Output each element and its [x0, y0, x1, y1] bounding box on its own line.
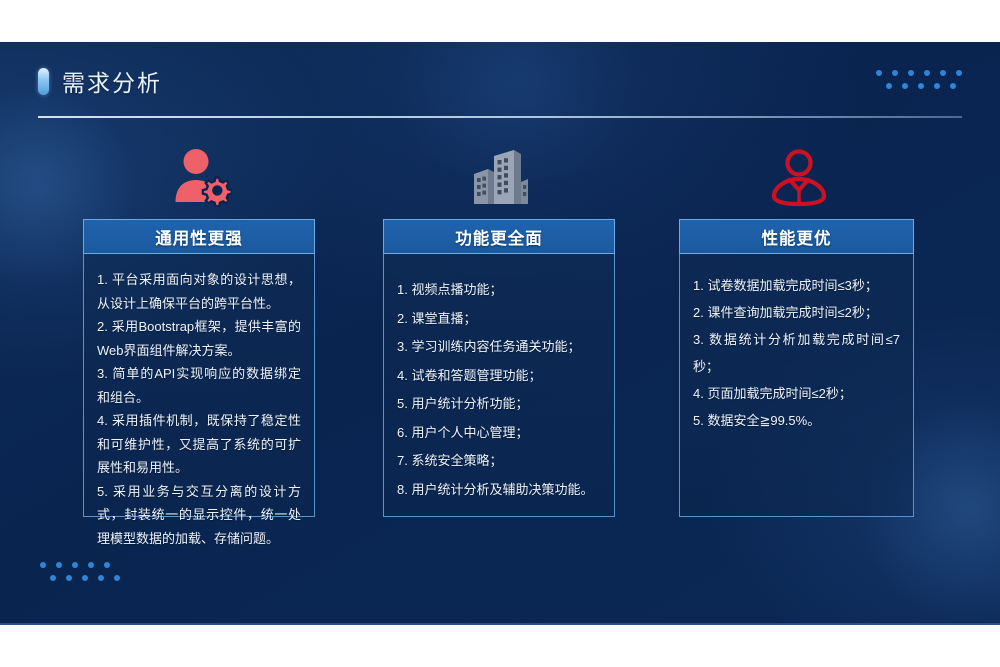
card-line: 2. 课件查询加载完成时间≤2秒；	[693, 299, 900, 326]
card-header-label: 功能更全面	[455, 225, 543, 249]
card-body-functionality: 1. 视频点播功能； 2. 课堂直播； 3. 学习训练内容任务通关功能； 4. …	[383, 254, 615, 517]
card-body-text: 1. 视频点播功能； 2. 课堂直播； 3. 学习训练内容任务通关功能； 4. …	[397, 276, 601, 504]
card-header-label: 性能更优	[762, 225, 832, 249]
card-line: 4. 采用插件机制，既保持了稳定性和可维护性，又提高了系统的可扩展性和易用性。	[97, 409, 301, 480]
card-line: 1. 视频点播功能；	[397, 276, 601, 305]
business-person-icon	[681, 146, 916, 208]
card-body-text: 1. 试卷数据加载完成时间≤3秒； 2. 课件查询加载完成时间≤2秒； 3. 数…	[693, 272, 900, 434]
card-line: 5. 数据安全≧99.5%。	[693, 407, 900, 434]
office-buildings-icon	[383, 146, 615, 208]
card-line: 8. 用户统计分析及辅助决策功能。	[397, 476, 601, 505]
card-line: 3. 数据统计分析加载完成时间≤7秒；	[693, 326, 900, 380]
card-line: 4. 试卷和答题管理功能；	[397, 362, 601, 391]
card-group: 通用性更强 1. 平台采用面向对象的设计思想，从设计上确保平台的跨平台性。 2.…	[0, 42, 1000, 625]
card-header-functionality: 功能更全面	[383, 219, 615, 254]
card-body-text: 1. 平台采用面向对象的设计思想，从设计上确保平台的跨平台性。 2. 采用Boo…	[97, 268, 301, 550]
card-line: 6. 用户个人中心管理；	[397, 419, 601, 448]
card-line: 4. 页面加载完成时间≤2秒；	[693, 380, 900, 407]
user-gear-icon	[85, 146, 317, 208]
card-line: 5. 采用业务与交互分离的设计方式，封装统一的显示控件，统一处理模型数据的加载、…	[97, 480, 301, 551]
card-header-generality: 通用性更强	[83, 219, 315, 254]
card-header-label: 通用性更强	[155, 225, 243, 249]
card-line: 1. 平台采用面向对象的设计思想，从设计上确保平台的跨平台性。	[97, 268, 301, 315]
card-line: 5. 用户统计分析功能；	[397, 390, 601, 419]
card-body-performance: 1. 试卷数据加载完成时间≤3秒； 2. 课件查询加载完成时间≤2秒； 3. 数…	[679, 254, 914, 517]
card-line: 7. 系统安全策略；	[397, 447, 601, 476]
card-line: 2. 课堂直播；	[397, 305, 601, 334]
card-line: 3. 简单的API实现响应的数据绑定和组合。	[97, 362, 301, 409]
card-line: 1. 试卷数据加载完成时间≤3秒；	[693, 272, 900, 299]
slide-canvas: 需求分析	[0, 42, 1000, 625]
card-line: 2. 采用Bootstrap框架，提供丰富的Web界面组件解决方案。	[97, 315, 301, 362]
card-header-performance: 性能更优	[679, 219, 914, 254]
card-line: 3. 学习训练内容任务通关功能；	[397, 333, 601, 362]
card-body-generality: 1. 平台采用面向对象的设计思想，从设计上确保平台的跨平台性。 2. 采用Boo…	[83, 254, 315, 517]
